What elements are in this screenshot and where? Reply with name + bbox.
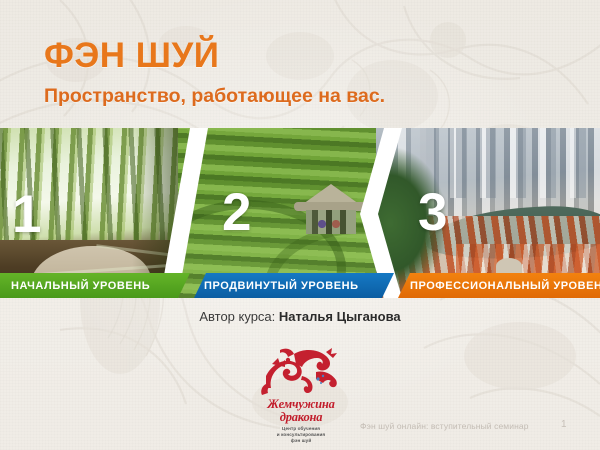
- level-band-label-1: НАЧАЛЬНЫЙ УРОВЕНЬ: [11, 280, 150, 292]
- red-dragon-icon: [258, 346, 344, 398]
- author-name: Наталья Цыганова: [279, 309, 401, 324]
- level-band-2[interactable]: ПРОДВИНУТЫЙ УРОВЕНЬ: [194, 273, 394, 298]
- logo-tagline-line3: фэн шуй: [258, 438, 344, 444]
- level-band-label-2: ПРОДВИНУТЫЙ УРОВЕНЬ: [204, 280, 359, 292]
- author-prefix: Автор курса:: [199, 309, 275, 324]
- logo-name-line1: Жемчужина: [258, 398, 344, 411]
- page-subtitle: Пространство, работающее на вас.: [44, 87, 564, 107]
- author-line: Автор курса: Наталья Цыганова: [0, 309, 600, 324]
- footer-text: Фэн шуй онлайн: вступительный семинар: [360, 421, 529, 431]
- level-numeral-2: 2: [222, 186, 251, 239]
- page-number: 1: [561, 419, 567, 430]
- page-title: ФЭН ШУЙ: [44, 38, 564, 73]
- level-band-1[interactable]: НАЧАЛЬНЫЙ УРОВЕНЬ: [0, 273, 190, 298]
- logo-name-line2: дракона: [258, 411, 344, 424]
- presentation-slide: ФЭН ШУЙ Пространство, работающее на вас.…: [0, 0, 600, 450]
- level-band-label-3: ПРОФЕССИОНАЛЬНЫЙ УРОВЕНЬ: [410, 280, 600, 292]
- level-bands: НАЧАЛЬНЫЙ УРОВЕНЬ ПРОДВИНУТЫЙ УРОВЕНЬ ПР…: [0, 273, 600, 298]
- level-numeral-1: 1: [12, 188, 41, 241]
- level-numeral-3: 3: [418, 186, 447, 239]
- level-band-3[interactable]: ПРОФЕССИОНАЛЬНЫЙ УРОВЕНЬ: [398, 273, 600, 298]
- company-logo[interactable]: Жемчужина дракона Центр обучения и консу…: [258, 346, 344, 440]
- title-block: ФЭН ШУЙ Пространство, работающее на вас.: [44, 38, 564, 107]
